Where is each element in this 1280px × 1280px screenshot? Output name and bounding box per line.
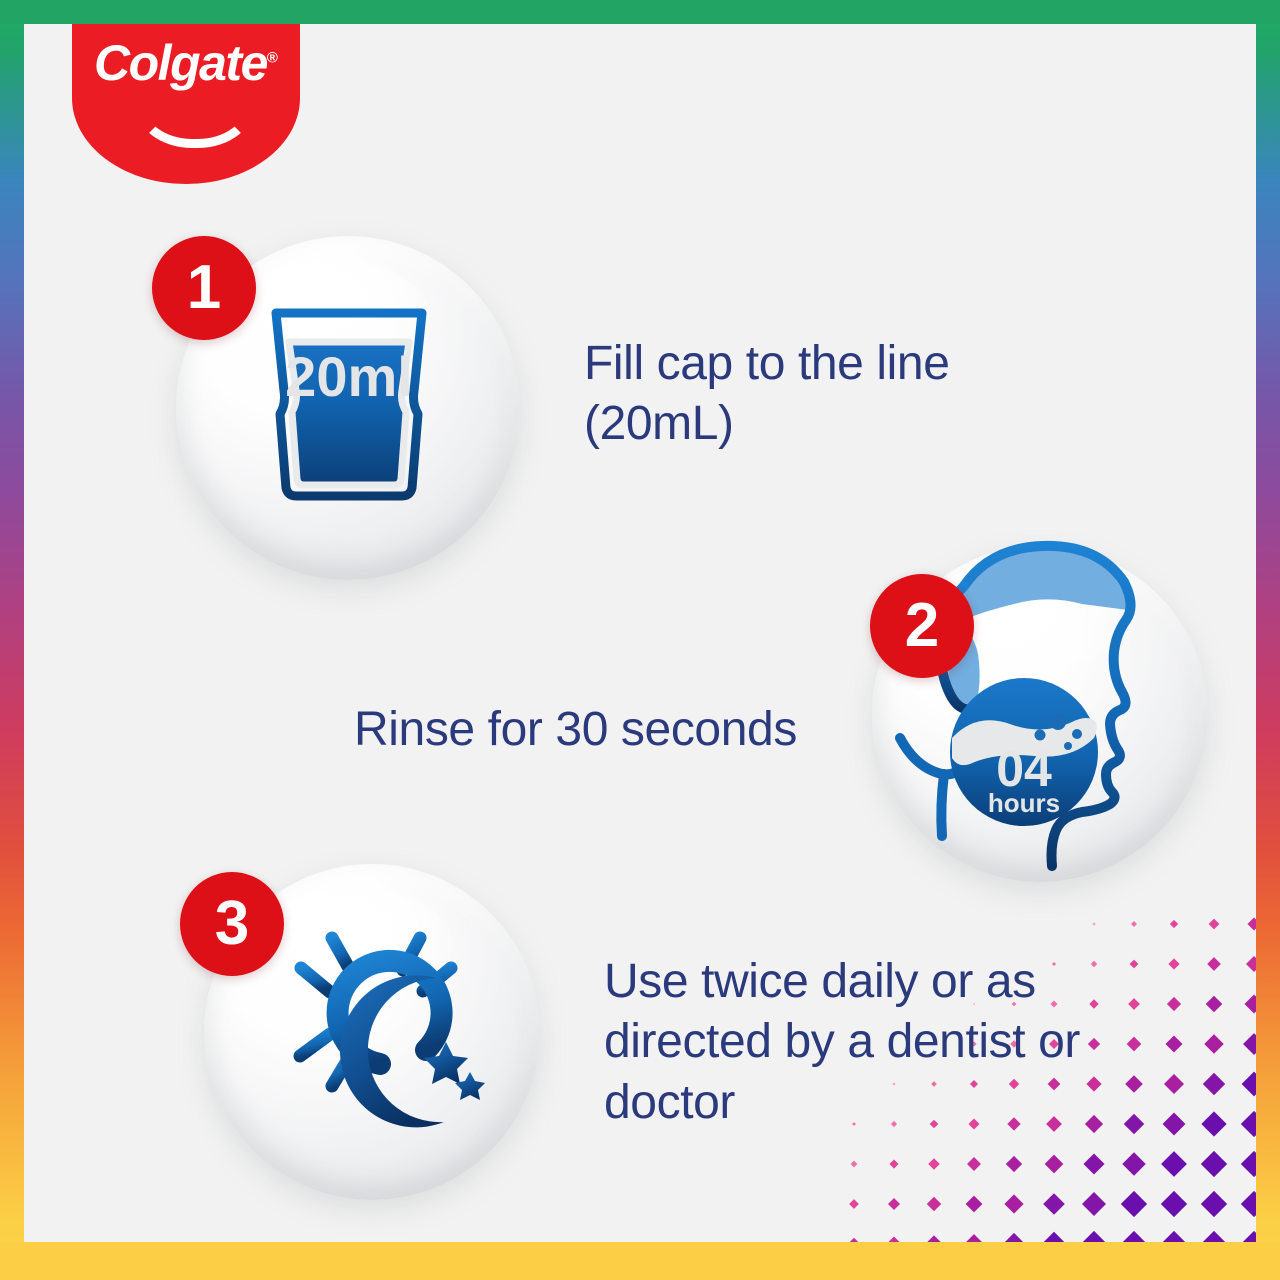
frame-bottom-yellow xyxy=(0,1242,1280,1280)
diamond-dot xyxy=(1167,997,1181,1011)
step-3-number-badge: 3 xyxy=(180,872,284,976)
diamond-dot xyxy=(848,1238,861,1242)
diamond-dot xyxy=(1161,1191,1187,1217)
colgate-smile-icon xyxy=(134,78,256,148)
diamond-dot xyxy=(1247,917,1256,930)
diamond-dot xyxy=(1131,921,1137,927)
diamond-dot xyxy=(1241,1231,1256,1242)
diamond-dot xyxy=(1201,1191,1227,1217)
frame-left-gradient xyxy=(0,0,24,1280)
diamond-dot xyxy=(964,1234,984,1242)
diamond-dot xyxy=(1241,1111,1256,1137)
diamond-dot xyxy=(1206,996,1223,1013)
registered-trademark-icon: ® xyxy=(267,49,278,66)
step-3-text: Use twice daily or as directed by a dent… xyxy=(604,952,1104,1133)
diamond-dot xyxy=(1121,1191,1147,1217)
step-2-text: Rinse for 30 seconds xyxy=(354,700,874,760)
diamond-dot xyxy=(1245,995,1256,1014)
diamond-dot xyxy=(887,1237,902,1242)
diamond-dot xyxy=(1130,960,1139,969)
diamond-dot xyxy=(1204,1034,1223,1053)
diamond-dot xyxy=(1121,1231,1147,1242)
diamond-dot xyxy=(1168,958,1179,969)
diamond-dot xyxy=(1045,1155,1064,1174)
diamond-dot xyxy=(889,1159,898,1168)
diamond-dot xyxy=(1082,1192,1106,1216)
diamond-dot xyxy=(966,1196,983,1213)
diamond-dot xyxy=(1201,1111,1226,1136)
diamond-dot xyxy=(1128,998,1140,1010)
diamond-dot xyxy=(1242,1072,1256,1097)
diamond-dot xyxy=(1203,1073,1225,1095)
diamond-dot xyxy=(925,1235,942,1242)
diamond-dot xyxy=(1092,922,1096,926)
diamond-dot xyxy=(851,1161,858,1168)
diamond-dot xyxy=(928,1158,940,1170)
diamond-dot xyxy=(927,1197,941,1211)
frame-right-gradient xyxy=(1256,0,1280,1280)
diamond-dot xyxy=(1246,956,1256,972)
step-1-number-badge: 1 xyxy=(152,236,256,340)
content-canvas: Colgate® xyxy=(24,24,1256,1242)
frame-top-green xyxy=(0,0,1280,24)
diamond-dot xyxy=(1125,1075,1143,1093)
diamond-dot xyxy=(1042,1232,1067,1242)
diamond-dot xyxy=(1161,1231,1187,1242)
diamond-dot xyxy=(1127,1037,1142,1052)
diamond-dot xyxy=(1006,1156,1022,1172)
step-2-number-badge: 2 xyxy=(870,574,974,678)
diamond-dot xyxy=(1163,1113,1186,1136)
diamond-dot xyxy=(1209,919,1220,930)
cap-volume-label: 20ml xyxy=(285,345,413,408)
diamond-dot xyxy=(1003,1233,1025,1242)
diamond-dot xyxy=(1122,1152,1145,1175)
diamond-dot xyxy=(888,1198,900,1210)
diamond-dot xyxy=(849,1199,859,1209)
poster-root: Colgate® xyxy=(0,0,1280,1280)
diamond-dot xyxy=(1083,1153,1104,1174)
diamond-dot xyxy=(1201,1151,1227,1177)
colgate-logo-badge: Colgate® xyxy=(72,24,300,184)
diamond-dot xyxy=(1164,1074,1184,1094)
diamond-dot xyxy=(1124,1114,1145,1135)
diamond-dot xyxy=(1207,957,1221,971)
step-1-text: Fill cap to the line (20mL) xyxy=(584,334,974,455)
diamond-dot xyxy=(1241,1191,1256,1217)
diamond-dot xyxy=(1241,1151,1256,1177)
diamond-dot xyxy=(1165,1035,1182,1052)
diamond-dot xyxy=(1043,1193,1065,1215)
star-small xyxy=(455,1072,485,1100)
diamond-dot xyxy=(1004,1194,1023,1213)
diamond-dot xyxy=(1170,920,1178,928)
diamond-dot xyxy=(1081,1231,1107,1242)
diamond-dot xyxy=(1201,1231,1227,1242)
diamond-dot xyxy=(967,1157,981,1171)
diamond-dot xyxy=(1161,1151,1187,1177)
diamond-dot xyxy=(1243,1033,1256,1055)
